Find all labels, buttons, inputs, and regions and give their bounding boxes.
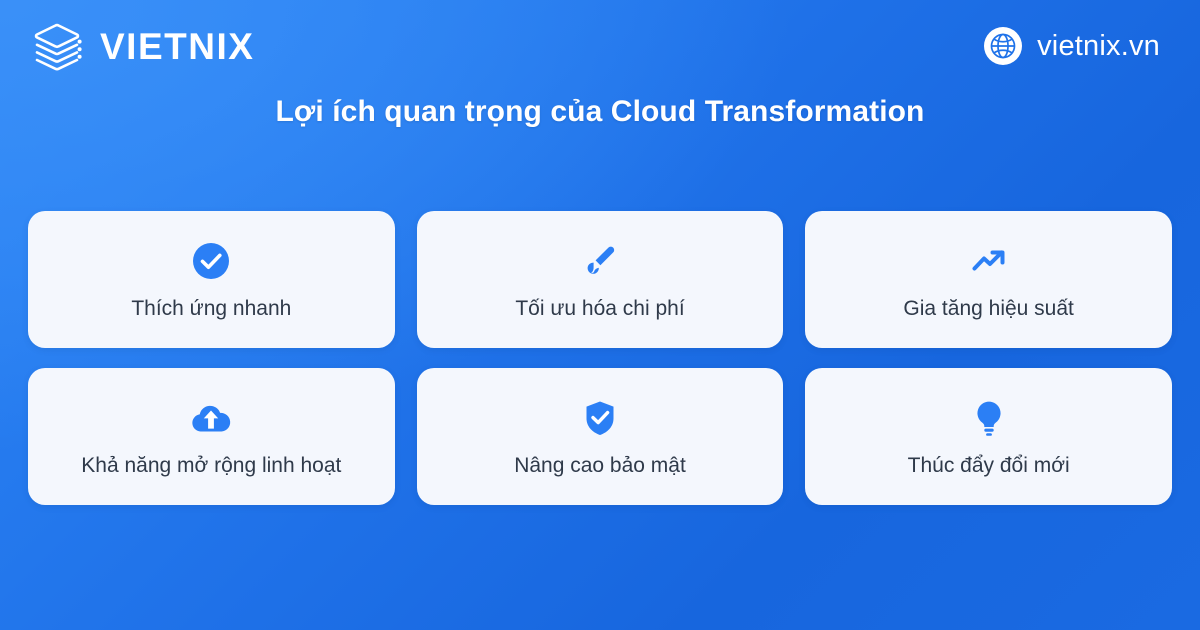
- benefit-card[interactable]: Thích ứng nhanh: [28, 211, 395, 348]
- check-circle-icon: [189, 238, 233, 284]
- shield-check-icon: [578, 395, 622, 441]
- infographic-poster: VIETNIX vietnix.vn Lợi ích quan trọng: [0, 0, 1200, 630]
- cloud-upload-icon: [187, 395, 235, 441]
- benefit-card[interactable]: Khả năng mở rộng linh hoạt: [28, 368, 395, 505]
- benefit-label: Tối ưu hóa chi phí: [515, 296, 684, 321]
- trending-up-icon: [967, 238, 1011, 284]
- benefit-label: Khả năng mở rộng linh hoạt: [81, 453, 341, 478]
- benefit-card[interactable]: Nâng cao bảo mật: [417, 368, 784, 505]
- page-title: Lợi ích quan trọng của Cloud Transformat…: [0, 93, 1200, 131]
- benefit-card[interactable]: Thúc đẩy đổi mới: [805, 368, 1172, 505]
- benefit-card[interactable]: Tối ưu hóa chi phí: [417, 211, 784, 348]
- benefit-label: Gia tăng hiệu suất: [903, 296, 1073, 321]
- brand-logo[interactable]: VIETNIX: [28, 17, 254, 75]
- paintbrush-icon: [578, 238, 622, 284]
- benefit-label: Thúc đẩy đổi mới: [908, 453, 1070, 478]
- lightbulb-icon: [967, 395, 1011, 441]
- brand-name: VIETNIX: [100, 28, 254, 65]
- benefits-grid: Thích ứng nhanh Tối ưu hóa chi phí Gia t…: [28, 211, 1172, 505]
- stacked-layers-icon: [28, 17, 86, 75]
- site-url: vietnix.vn: [1037, 32, 1160, 61]
- benefit-label: Nâng cao bảo mật: [514, 453, 686, 478]
- benefit-label: Thích ứng nhanh: [131, 296, 291, 321]
- header: VIETNIX vietnix.vn: [0, 0, 1200, 92]
- globe-icon: [983, 26, 1023, 66]
- site-link[interactable]: vietnix.vn: [983, 26, 1160, 66]
- benefit-card[interactable]: Gia tăng hiệu suất: [805, 211, 1172, 348]
